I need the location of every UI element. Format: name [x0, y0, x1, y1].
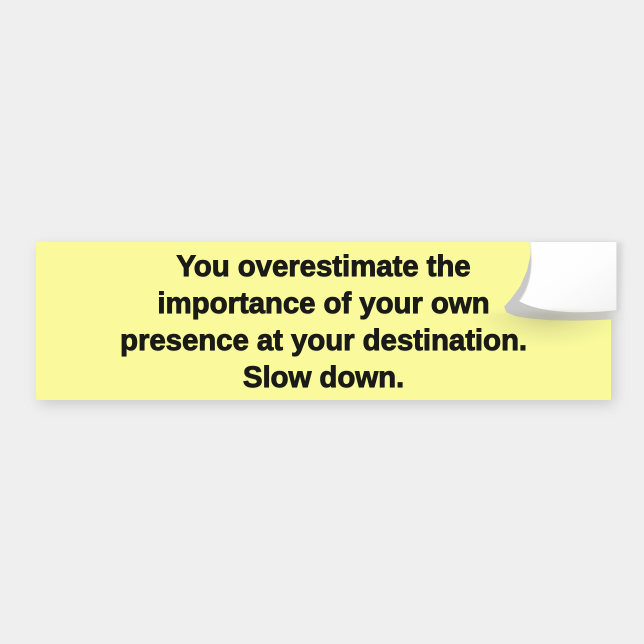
- curl-white-underside: [519, 242, 616, 312]
- peeled-corner-icon: [510, 242, 616, 324]
- peeled-corner-svg: [510, 242, 616, 324]
- bumper-sticker: You overestimate the importance of your …: [36, 242, 611, 400]
- sticker-canvas: You overestimate the importance of your …: [0, 0, 644, 644]
